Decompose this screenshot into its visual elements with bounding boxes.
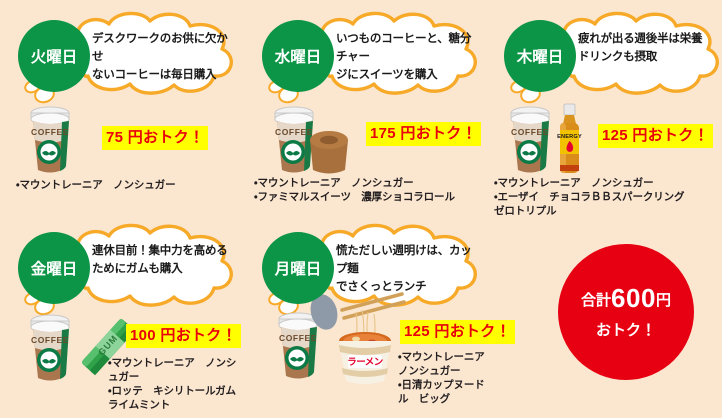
product-list: ・マウントレーニア ノンシュガー ・日清カップヌードル ビッグ [398, 350, 488, 406]
day-badge-friday: 金曜日 [18, 232, 90, 304]
svg-text:COFFEE: COFFEE [511, 127, 549, 137]
day-badge-monday: 月曜日 [262, 232, 334, 304]
comment-text: デスクワークのお供に欠かせ ないコーヒーは毎日購入 [92, 30, 236, 84]
day-label: 金曜日 [31, 257, 78, 279]
product-list: ・マウントレーニア ノンシュガー ・ロッテ キシリトールガム ライムミント [108, 356, 244, 412]
day-panel-monday: 慌ただしい週明けは、カップ麺 でさくっとランチ 月曜日 COFFEE [248, 212, 488, 412]
infographic-canvas: デスクワークのお供に欠かせ ないコーヒーは毎日購入 火曜日 COFFEE 75 … [0, 0, 722, 418]
product-list: ・マウントレーニア ノンシュガー ・ファミマルスイーツ 濃厚ショコラロール [254, 176, 455, 204]
energy-drink-icon: ENERGY [552, 102, 586, 178]
total-amount-line: 合計600円 [581, 284, 671, 313]
day-badge-tuesday: 火曜日 [18, 20, 90, 92]
comment-text: いつものコーヒーと、糖分チャー ジにスイーツを購入 [336, 30, 480, 84]
total-unit: 円 [656, 292, 671, 309]
total-savings-badge: 合計600円 おトク！ [558, 244, 694, 380]
savings-badge: 175 円おトク！ [366, 122, 481, 146]
savings-badge: 100 円おトク！ [126, 324, 241, 348]
day-label: 水曜日 [275, 45, 322, 67]
day-badge-wednesday: 水曜日 [262, 20, 334, 92]
product-list: ・マウントレーニア ノンシュガー ・エーザイ チョコラＢＢスパークリング ゼロト… [494, 176, 684, 218]
day-panel-friday: 連休目前！集中力を高める ためにガムも購入 金曜日 COFFEE [4, 212, 244, 412]
day-panel-tuesday: デスクワークのお供に欠かせ ないコーヒーは毎日購入 火曜日 COFFEE 75 … [4, 0, 244, 200]
svg-text:COFFEE: COFFEE [31, 127, 69, 137]
coffee-cup-icon: COFFEE [502, 100, 558, 176]
day-label: 火曜日 [31, 45, 78, 67]
day-badge-thursday: 木曜日 [504, 20, 576, 92]
day-panel-wednesday: いつものコーヒーと、糖分チャー ジにスイーツを購入 水曜日 COFFEE 175… [248, 0, 488, 200]
svg-text:ラーメン: ラーメン [347, 357, 383, 368]
savings-badge: 125 円おトク！ [598, 124, 713, 148]
coffee-cup-icon: COFFEE [22, 100, 78, 176]
total-prefix: 合計 [581, 292, 611, 309]
svg-text:ENERGY: ENERGY [557, 134, 582, 140]
svg-text:COFFEE: COFFEE [31, 335, 69, 345]
day-panel-thursday: 疲れが出る週後半は栄養 ドリンクも摂取 木曜日 COFFEE ENERG [490, 0, 722, 200]
comment-text: 連休目前！集中力を高める ためにガムも購入 [92, 242, 236, 278]
savings-badge: 75 円おトク！ [102, 126, 208, 150]
coffee-cup-icon: COFFEE [22, 308, 78, 384]
comment-text: 疲れが出る週後半は栄養 ドリンクも摂取 [578, 30, 722, 66]
total-amount: 600 [611, 283, 656, 313]
savings-badge: 125 円おトク！ [400, 320, 515, 344]
roll-cake-icon [304, 126, 354, 178]
day-label: 木曜日 [517, 45, 564, 67]
day-label: 月曜日 [275, 257, 322, 279]
total-suffix: おトク！ [596, 319, 656, 340]
product-list: ・マウントレーニア ノンシュガー [16, 178, 175, 192]
